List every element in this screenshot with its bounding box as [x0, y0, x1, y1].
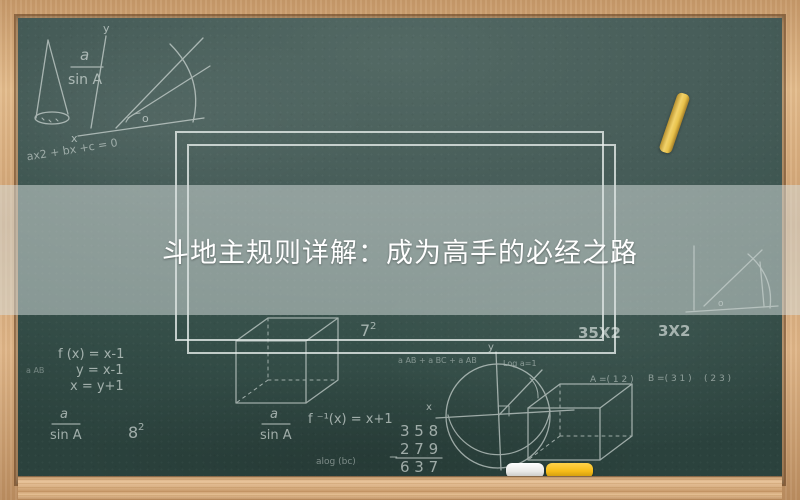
cone-diagram: [35, 40, 69, 124]
svg-text:y: y: [103, 22, 110, 35]
svg-text:f (x) = x-1: f (x) = x-1: [58, 347, 124, 362]
svg-text:a: a: [80, 46, 89, 64]
line-segment-sum: a AB + a BC + a AB: [398, 356, 477, 365]
column-subtraction: 3 5 8 2 7 9 6 3 7 _: [389, 422, 442, 476]
svg-text:x: x: [426, 402, 432, 413]
inverse-function: f ⁻¹(x) = x+1: [308, 412, 393, 427]
page-title: 斗地主规则详解：成为高手的必经之路: [0, 185, 800, 315]
chalk-ledge: [18, 476, 782, 500]
svg-text:6 3 7: 6 3 7: [400, 458, 438, 476]
chalkboard-scene: a sin A ax2 + bx +c = 0 y x: [0, 0, 800, 500]
svg-text:2: 2: [138, 422, 144, 433]
cube-diagram-right: [528, 384, 632, 460]
svg-text:x = y+1: x = y+1: [70, 379, 124, 394]
mul-3x2: 3X2: [658, 322, 690, 340]
svg-text:y = x-1: y = x-1: [76, 363, 124, 378]
small-note-left: a AB: [26, 366, 44, 375]
svg-text:( 2 3 ): ( 2 3 ): [704, 374, 731, 384]
log-bc: alog (bc): [316, 457, 356, 467]
eight-squared: 8 2: [128, 422, 144, 442]
svg-text:a: a: [60, 407, 68, 422]
svg-text:o: o: [142, 112, 149, 125]
svg-text:sin A: sin A: [50, 428, 82, 443]
svg-text:_: _: [389, 442, 398, 458]
svg-text:3 5 8: 3 5 8: [400, 422, 438, 440]
svg-text:B =( 3 1 ): B =( 3 1 ): [648, 374, 692, 384]
ledge-wood-grain: [18, 476, 782, 500]
svg-text:x: x: [71, 132, 78, 145]
fraction-a-over-sinA-bottomleft: a sin A: [50, 407, 82, 443]
svg-text:8: 8: [128, 423, 138, 442]
log-a-equals-one: Log a=1: [503, 359, 537, 368]
function-equations-center: f (x) = x-1 y = x-1 x = y+1: [58, 347, 124, 394]
fraction-a-over-sinA-topleft: a sin A: [68, 46, 103, 88]
svg-text:sin A: sin A: [260, 428, 292, 443]
svg-text:a: a: [270, 407, 278, 422]
fraction-a-over-sinA-centerbottom: a sin A: [260, 407, 292, 443]
svg-text:2 7 9: 2 7 9: [400, 440, 438, 458]
